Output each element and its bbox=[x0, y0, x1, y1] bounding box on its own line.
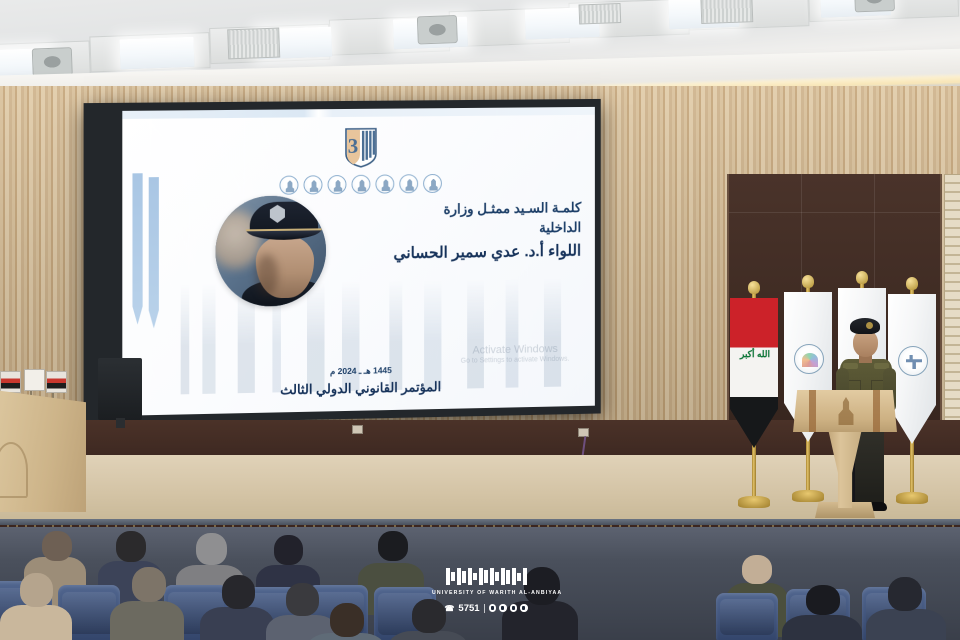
flag-finial bbox=[802, 275, 814, 288]
flag-emblem bbox=[898, 346, 928, 376]
partner-logos-row bbox=[279, 174, 441, 195]
speaker-portrait bbox=[216, 195, 326, 307]
slide-top-accent bbox=[122, 107, 595, 119]
partner-logo-icon bbox=[304, 175, 323, 194]
presentation-slide: 3 bbox=[122, 107, 595, 416]
slide-heading-line2: الداخلية bbox=[334, 217, 581, 240]
slide-speaker-name: اللواء أ.د. عدي سمير الحساني bbox=[334, 242, 581, 265]
table-emblem bbox=[0, 442, 28, 498]
partner-logo-icon bbox=[375, 174, 394, 193]
flag-script: الله أكبر bbox=[740, 350, 770, 378]
contact-row: ☎ 5751 bbox=[432, 603, 540, 614]
svg-text:3: 3 bbox=[348, 134, 358, 158]
flag-finial bbox=[856, 271, 868, 284]
hvac-vent bbox=[579, 3, 622, 25]
telegram-icon[interactable] bbox=[510, 604, 518, 612]
partner-logo-icon bbox=[423, 174, 442, 193]
hvac-vent bbox=[227, 28, 280, 60]
flag-emblem bbox=[794, 344, 824, 374]
partner-logo-icon bbox=[279, 176, 298, 195]
head-table bbox=[0, 390, 86, 512]
partner-logo-icon bbox=[351, 175, 370, 194]
slide-text-block: كلمـة السـيد ممثـل وزارة الداخلية اللواء… bbox=[334, 198, 581, 264]
beret-badge-icon bbox=[866, 322, 873, 329]
wall-socket bbox=[352, 425, 363, 434]
flag-finial bbox=[906, 277, 918, 290]
ceiling-fan-vent bbox=[417, 15, 458, 44]
facebook-icon[interactable] bbox=[489, 604, 497, 612]
flag-base bbox=[896, 492, 928, 504]
conference-shield-logo: 3 bbox=[344, 127, 378, 169]
beret-icon bbox=[850, 318, 880, 334]
stage-monitor bbox=[98, 358, 142, 420]
podium bbox=[793, 390, 897, 525]
flag-finial bbox=[748, 281, 760, 294]
separator bbox=[484, 604, 485, 613]
desk-flag bbox=[46, 371, 67, 393]
hvac-vent bbox=[700, 0, 753, 24]
instagram-icon[interactable] bbox=[499, 604, 507, 612]
phone-icon: ☎ bbox=[444, 604, 454, 613]
desk-flag bbox=[0, 371, 21, 393]
windows-activation-watermark: Activate Windows Go to Settings to activ… bbox=[461, 342, 570, 366]
partner-logo-icon bbox=[399, 174, 418, 193]
partner-logo-icon bbox=[328, 175, 347, 194]
youtube-icon[interactable] bbox=[520, 604, 528, 612]
desk-flag bbox=[24, 369, 45, 391]
projection-screen[interactable]: 3 bbox=[84, 99, 601, 425]
social-icons-group bbox=[489, 604, 528, 612]
podium-lectern-top bbox=[793, 390, 897, 432]
university-name-latin: UNIVERSITY OF WARITH AL-ANBIYAA bbox=[432, 590, 540, 596]
flag-cloth: الله أكبر bbox=[730, 298, 778, 448]
ceiling-light bbox=[119, 37, 194, 70]
podium-emblem bbox=[835, 397, 857, 425]
university-kufic-logo-icon bbox=[432, 566, 540, 587]
speaker-head bbox=[853, 330, 878, 357]
conference-hall-photo: 3 bbox=[0, 0, 960, 640]
flag-base bbox=[738, 496, 770, 508]
slide-heading-line1: كلمـة السـيد ممثـل وزارة bbox=[334, 198, 581, 221]
podium-column bbox=[823, 430, 867, 508]
monitor-stand bbox=[116, 418, 125, 428]
audience-chair bbox=[716, 593, 778, 640]
broadcast-watermark: UNIVERSITY OF WARITH AL-ANBIYAA ☎ 5751 bbox=[432, 566, 540, 614]
phone-number: 5751 bbox=[458, 603, 479, 614]
ceiling-fan-vent bbox=[32, 47, 73, 76]
ceiling-fan-vent bbox=[854, 0, 895, 12]
ceiling bbox=[0, 0, 960, 92]
